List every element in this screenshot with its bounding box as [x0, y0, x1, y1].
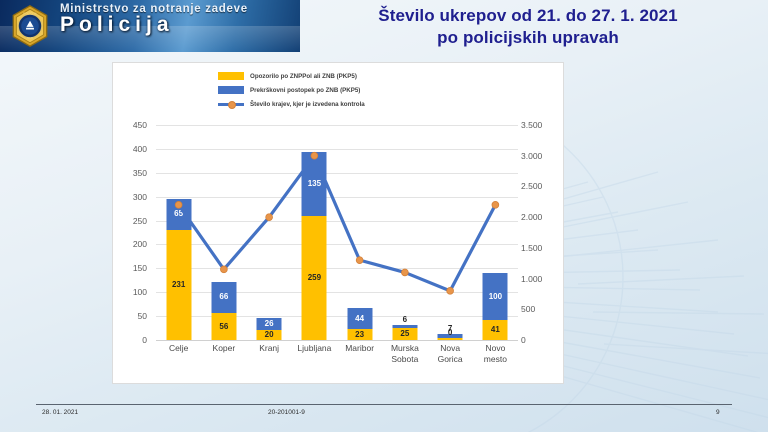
x-axis-label: Koper: [201, 343, 246, 364]
bar-segment-prekrskovni[interactable]: 44: [347, 308, 372, 329]
bar-segment-opozorilo[interactable]: 23: [347, 329, 372, 340]
y-axis-left-tick: 200: [111, 239, 147, 249]
x-axis-label-line: Celje: [156, 343, 201, 354]
page-title-line-2: po policijskih upravah: [318, 27, 738, 49]
stacked-bar[interactable]: 6656: [211, 282, 236, 340]
y-axis-right-tick: 1.000: [521, 274, 561, 284]
footer-code: 20-201001-9: [268, 409, 305, 416]
y-axis-left-tick: 100: [111, 287, 147, 297]
x-axis-label-line: mesto: [473, 354, 518, 365]
bar-segment-prekrskovni[interactable]: 65: [166, 199, 191, 230]
y-axis-right-tick: 2.000: [521, 212, 561, 222]
x-axis-label: Celje: [156, 343, 201, 364]
page-title-line-1: Število ukrepov od 21. do 27. 1. 2021: [318, 5, 738, 27]
bar-value-label: 23: [355, 331, 364, 339]
x-axis-label-line: Gorica: [428, 354, 473, 365]
bar-segment-opozorilo[interactable]: 41: [483, 320, 508, 340]
legend-label-kontrola: Število krajev, kjer je izvedena kontrol…: [250, 101, 365, 108]
legend-swatch-yellow: [218, 72, 244, 80]
page-title: Število ukrepov od 21. do 27. 1. 2021 po…: [318, 5, 738, 50]
bar-group[interactable]: 2620: [247, 125, 292, 340]
y-axis-left-tick: 250: [111, 216, 147, 226]
stacked-bar[interactable]: 2620: [257, 318, 282, 340]
organisation-label: Policija: [60, 14, 248, 36]
legend-swatch-line: [218, 100, 244, 108]
bar-value-label: 65: [174, 210, 183, 218]
bar-value-label: 135: [308, 180, 321, 188]
legend-swatch-blue: [218, 86, 244, 94]
bar-group[interactable]: 625: [382, 125, 427, 340]
bar-group[interactable]: 65231: [156, 125, 201, 340]
x-axis-label-line: Kranj: [247, 343, 292, 354]
stacked-bar[interactable]: 10041: [483, 273, 508, 340]
chart-panel: Opozorilo po ZNPPol ali ZNB (PKP5) Prekr…: [112, 62, 564, 384]
svg-text:SLO: SLO: [27, 36, 34, 40]
bar-segment-prekrskovni[interactable]: 100: [483, 273, 508, 321]
y-axis-right-tick: 3.500: [521, 120, 561, 130]
header-banner: POLICIJA SLO Ministrstvo za notranje zad…: [0, 0, 300, 52]
x-axis-label: Kranj: [247, 343, 292, 364]
y-axis-right-tick: 2.500: [521, 181, 561, 191]
bar-segment-prekrskovni[interactable]: 135: [302, 152, 327, 217]
y-axis-left-tick: 0: [111, 335, 147, 345]
y-axis-left-tick: 350: [111, 168, 147, 178]
bar-group[interactable]: 10041: [473, 125, 518, 340]
x-axis-label-line: Murska: [382, 343, 427, 354]
bar-value-label: 0: [448, 329, 452, 337]
x-axis-label-line: Sobota: [382, 354, 427, 365]
bar-segment-prekrskovni[interactable]: 66: [211, 282, 236, 314]
bar-segment-prekrskovni[interactable]: 26: [257, 318, 282, 330]
bar-segment-opozorilo[interactable]: 259: [302, 216, 327, 340]
x-axis-label-line: Koper: [201, 343, 246, 354]
bar-value-label: 41: [491, 326, 500, 334]
x-axis-label-line: Novo: [473, 343, 518, 354]
x-axis-label: Maribor: [337, 343, 382, 364]
bar-segment-opozorilo[interactable]: 20: [257, 330, 282, 340]
y-axis-right-tick: 3.000: [521, 151, 561, 161]
bar-value-label: 44: [355, 315, 364, 323]
police-badge-icon: POLICIJA SLO: [8, 4, 52, 48]
bar-group[interactable]: 135259: [292, 125, 337, 340]
legend-item-kontrola: Število krajev, kjer je izvedena kontrol…: [218, 98, 365, 110]
bar-value-label: 25: [400, 330, 409, 338]
bar-group[interactable]: 4423: [337, 125, 382, 340]
bar-series-layer: 652316656262013525944236257010041: [156, 125, 518, 340]
y-axis-left-tick: 300: [111, 192, 147, 202]
stacked-bar[interactable]: 625: [392, 325, 417, 340]
stacked-bar[interactable]: 4423: [347, 308, 372, 340]
bar-value-label: 100: [489, 293, 502, 301]
y-axis-right-tick: 0: [521, 335, 561, 345]
bar-value-label: 6: [403, 316, 407, 324]
bar-segment-opozorilo[interactable]: 56: [211, 313, 236, 340]
x-axis-label: NovaGorica: [428, 343, 473, 364]
bar-segment-opozorilo[interactable]: 231: [166, 230, 191, 340]
stacked-bar[interactable]: 135259: [302, 152, 327, 340]
x-axis-labels: CeljeKoperKranjLjubljanaMariborMurskaSob…: [156, 343, 518, 364]
x-axis-label-line: Ljubljana: [292, 343, 337, 354]
chart-legend: Opozorilo po ZNPPol ali ZNB (PKP5) Prekr…: [218, 70, 365, 110]
bar-value-label: 259: [308, 274, 321, 282]
bar-value-label: 66: [219, 293, 228, 301]
footer-date: 28. 01. 2021: [42, 409, 78, 416]
bar-value-label: 56: [219, 323, 228, 331]
bar-group[interactable]: 70: [428, 125, 473, 340]
bar-value-label: 20: [265, 331, 274, 339]
footer-divider: [36, 404, 732, 405]
x-axis-label-line: Maribor: [337, 343, 382, 354]
svg-text:POLICIJA: POLICIJA: [23, 12, 38, 16]
y-axis-left-tick: 50: [111, 311, 147, 321]
x-axis-label-line: Nova: [428, 343, 473, 354]
legend-label-opozorilo: Opozorilo po ZNPPol ali ZNB (PKP5): [250, 73, 357, 80]
bar-segment-opozorilo[interactable]: 0: [438, 338, 463, 341]
gridline: [156, 340, 518, 341]
bar-value-label: 231: [172, 281, 185, 289]
legend-label-prekrskovni: Prekrškovni postopek po ZNB (PKP5): [250, 87, 360, 94]
legend-item-prekrskovni: Prekrškovni postopek po ZNB (PKP5): [218, 84, 365, 96]
y-axis-left-tick: 450: [111, 120, 147, 130]
x-axis-label: MurskaSobota: [382, 343, 427, 364]
y-axis-right-tick: 1.500: [521, 243, 561, 253]
plot-area: 652316656262013525944236257010041: [156, 125, 518, 340]
bar-segment-opozorilo[interactable]: 25: [392, 328, 417, 340]
x-axis-label: Ljubljana: [292, 343, 337, 364]
bar-group[interactable]: 6656: [201, 125, 246, 340]
y-axis-right-tick: 500: [521, 304, 561, 314]
y-axis-left-tick: 150: [111, 263, 147, 273]
x-axis-label: Novomesto: [473, 343, 518, 364]
footer-page-number: 9: [716, 409, 720, 416]
stacked-bar[interactable]: 65231: [166, 199, 191, 340]
legend-item-opozorilo: Opozorilo po ZNPPol ali ZNB (PKP5): [218, 70, 365, 82]
y-axis-left-tick: 400: [111, 144, 147, 154]
stacked-bar[interactable]: 70: [438, 334, 463, 340]
bar-value-label: 26: [265, 320, 274, 328]
